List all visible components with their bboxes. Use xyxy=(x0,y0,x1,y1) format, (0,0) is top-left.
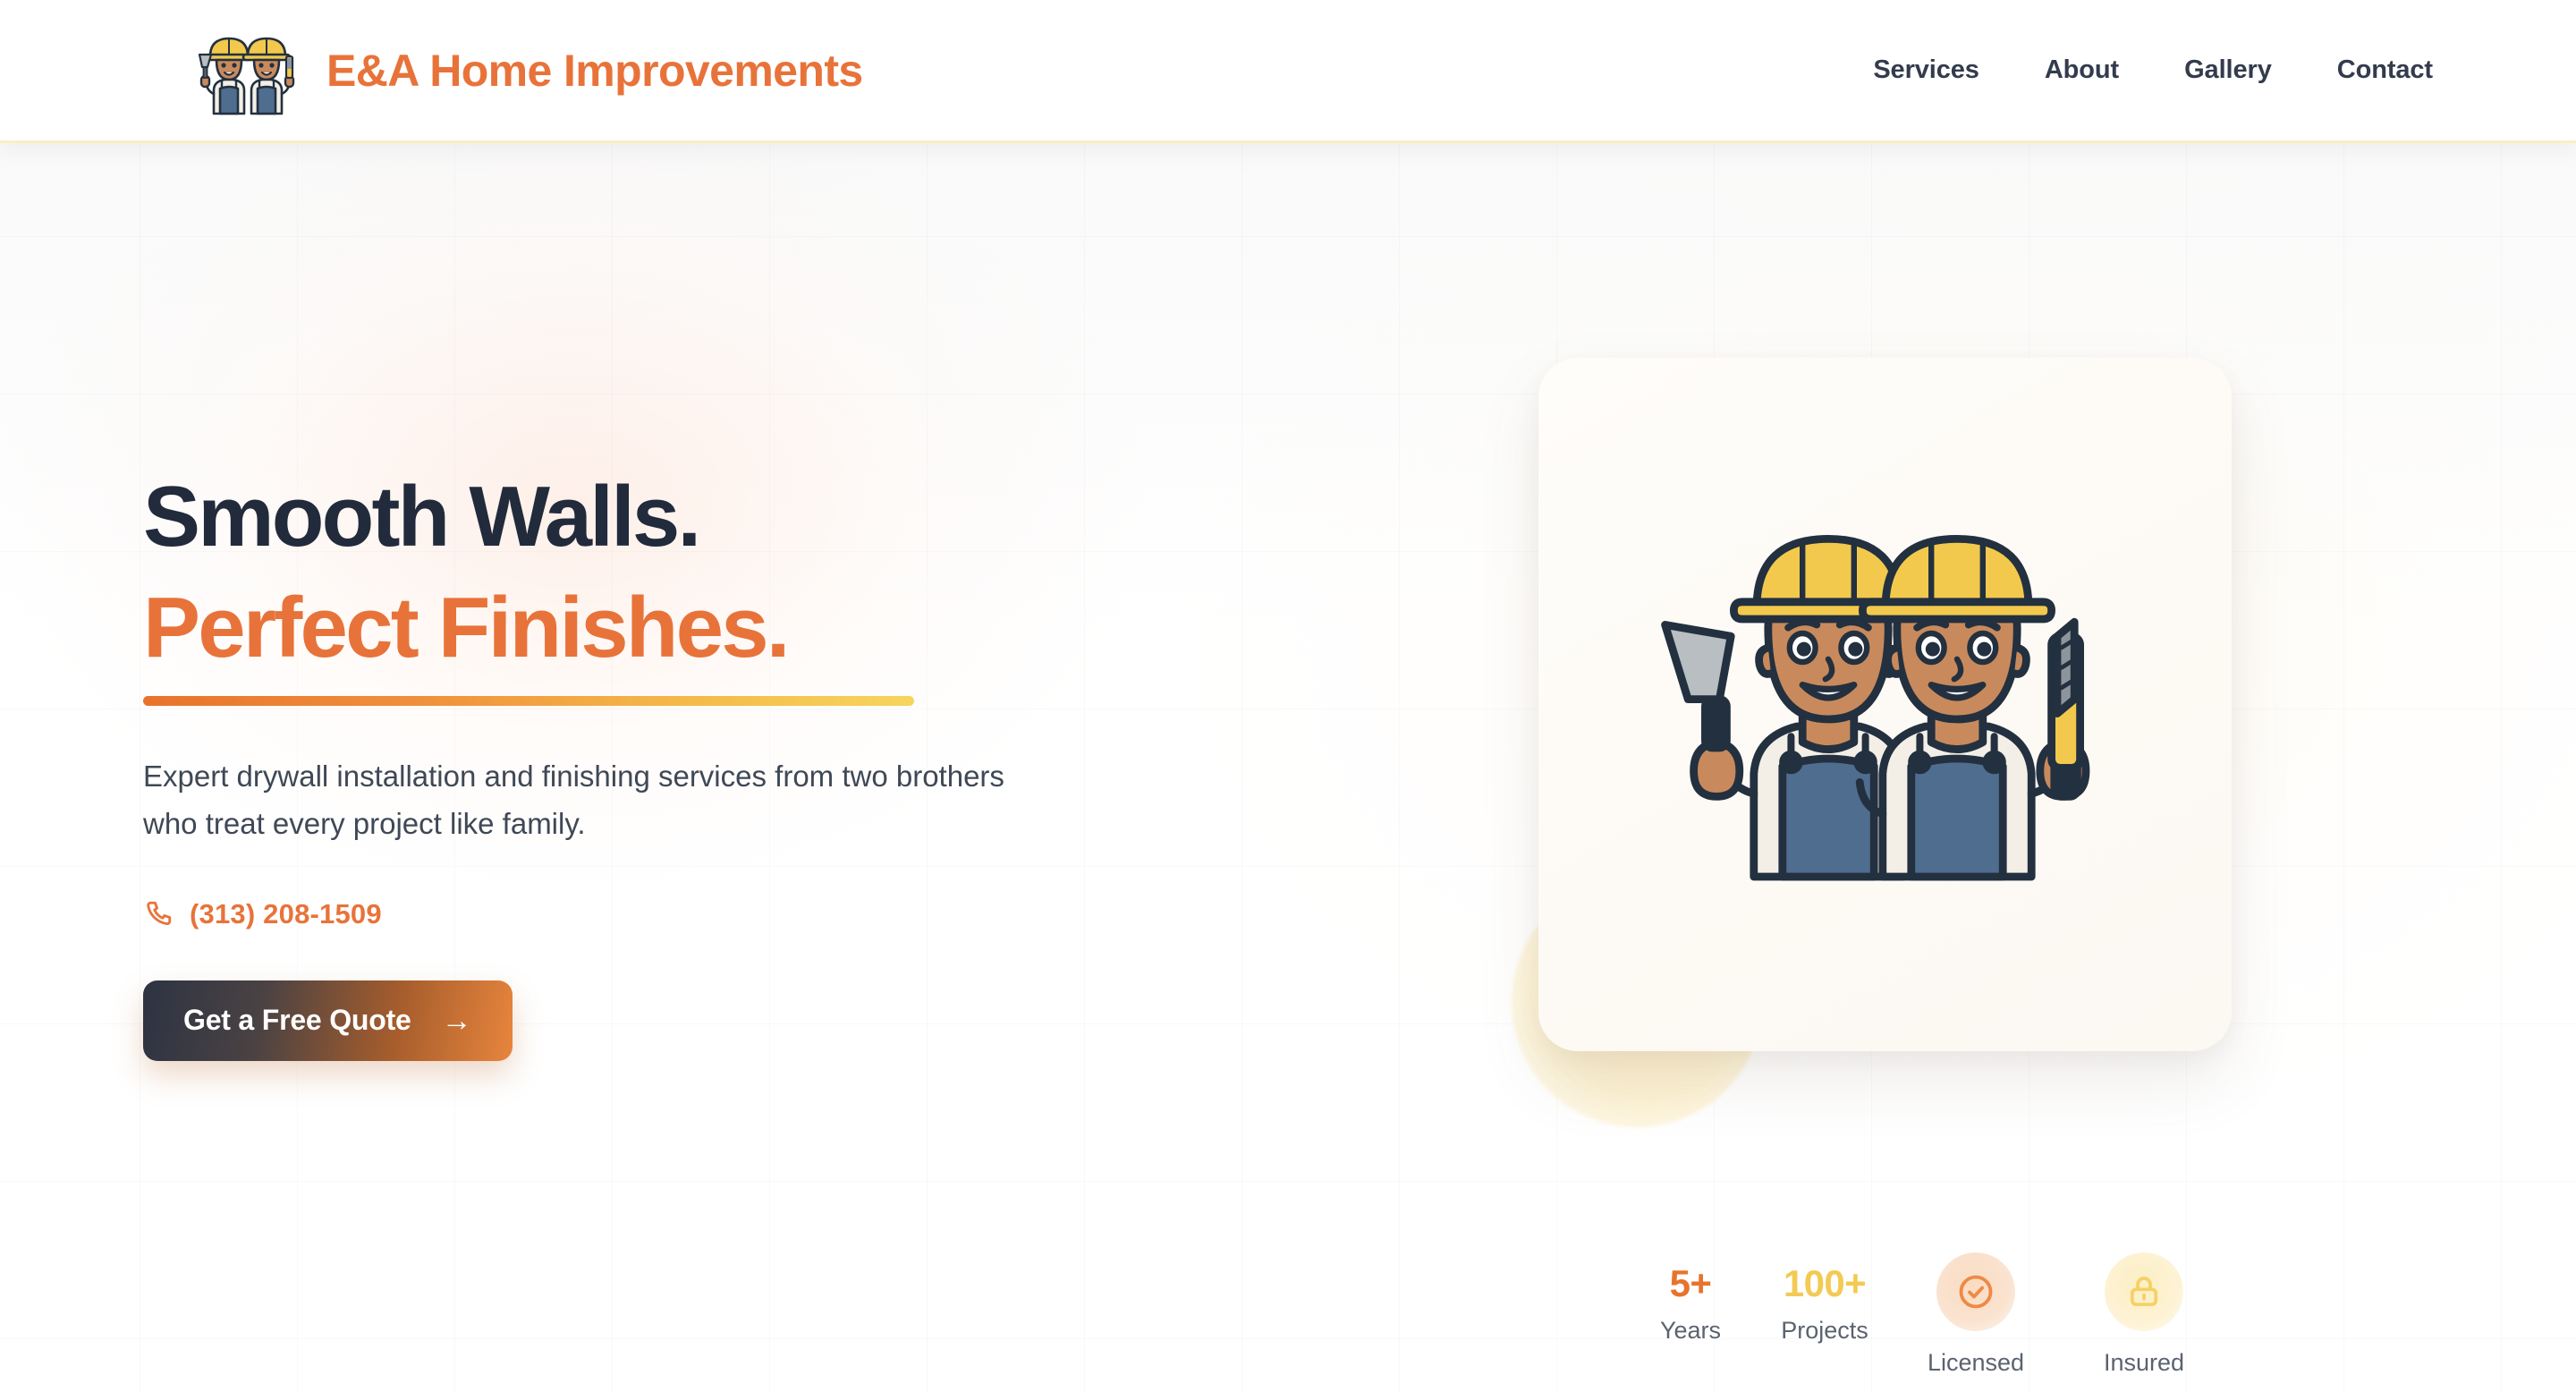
badge-insured: Insured xyxy=(2060,1252,2228,1377)
title-underline-accent xyxy=(143,696,914,706)
stat-projects: 100+ Projects xyxy=(1758,1252,1892,1345)
main-navigation: Services About Gallery Contact xyxy=(1873,55,2433,85)
phone-icon xyxy=(143,899,174,929)
stat-projects-label: Projects xyxy=(1758,1317,1892,1345)
hero-image-card xyxy=(1538,358,2232,1051)
hero-section: Smooth Walls. Perfect Finishes. Expert d… xyxy=(0,143,2576,1392)
site-header: E&A Home Improvements Services About Gal… xyxy=(0,0,2576,143)
trust-stats-row: 5+ Years 100+ Projects Licensed xyxy=(1623,1252,2228,1377)
badge-licensed: Licensed xyxy=(1892,1252,2060,1377)
two-workers-logo-icon xyxy=(192,24,303,117)
check-circle-icon xyxy=(1956,1272,1996,1311)
stat-years-value: 5+ xyxy=(1623,1265,1758,1303)
stat-years: 5+ Years xyxy=(1623,1252,1758,1345)
two-drywall-workers-illustration xyxy=(1599,419,2172,991)
phone-link[interactable]: (313) 208-1509 xyxy=(143,898,382,930)
stat-projects-value: 100+ xyxy=(1758,1265,1892,1303)
page-title: Smooth Walls. Perfect Finishes. xyxy=(143,474,1172,671)
nav-link-services[interactable]: Services xyxy=(1873,55,1979,85)
nav-link-about[interactable]: About xyxy=(2045,55,2119,85)
hero-title-line2: Perfect Finishes. xyxy=(143,585,1172,671)
hero-title-line1: Smooth Walls. xyxy=(143,469,699,564)
nav-link-gallery[interactable]: Gallery xyxy=(2184,55,2272,85)
hero-content: Smooth Walls. Perfect Finishes. Expert d… xyxy=(143,474,1172,1061)
phone-number: (313) 208-1509 xyxy=(190,898,382,930)
badge-licensed-circle xyxy=(1936,1252,2015,1331)
badge-licensed-label: Licensed xyxy=(1928,1349,2024,1377)
badge-insured-circle xyxy=(2105,1252,2183,1331)
stat-years-label: Years xyxy=(1623,1317,1758,1345)
lock-icon xyxy=(2124,1272,2164,1311)
nav-link-contact[interactable]: Contact xyxy=(2337,55,2433,85)
arrow-right-icon: → xyxy=(442,1006,472,1036)
hero-visual: 5+ Years 100+ Projects Licensed xyxy=(1485,358,2397,1369)
brand-logo-link[interactable]: E&A Home Improvements xyxy=(192,24,863,117)
cta-label: Get a Free Quote xyxy=(183,1004,411,1037)
get-free-quote-button[interactable]: Get a Free Quote → xyxy=(143,980,513,1061)
hero-subtitle: Expert drywall installation and finishin… xyxy=(143,752,1055,848)
badge-insured-label: Insured xyxy=(2104,1349,2184,1377)
brand-title: E&A Home Improvements xyxy=(326,45,863,97)
